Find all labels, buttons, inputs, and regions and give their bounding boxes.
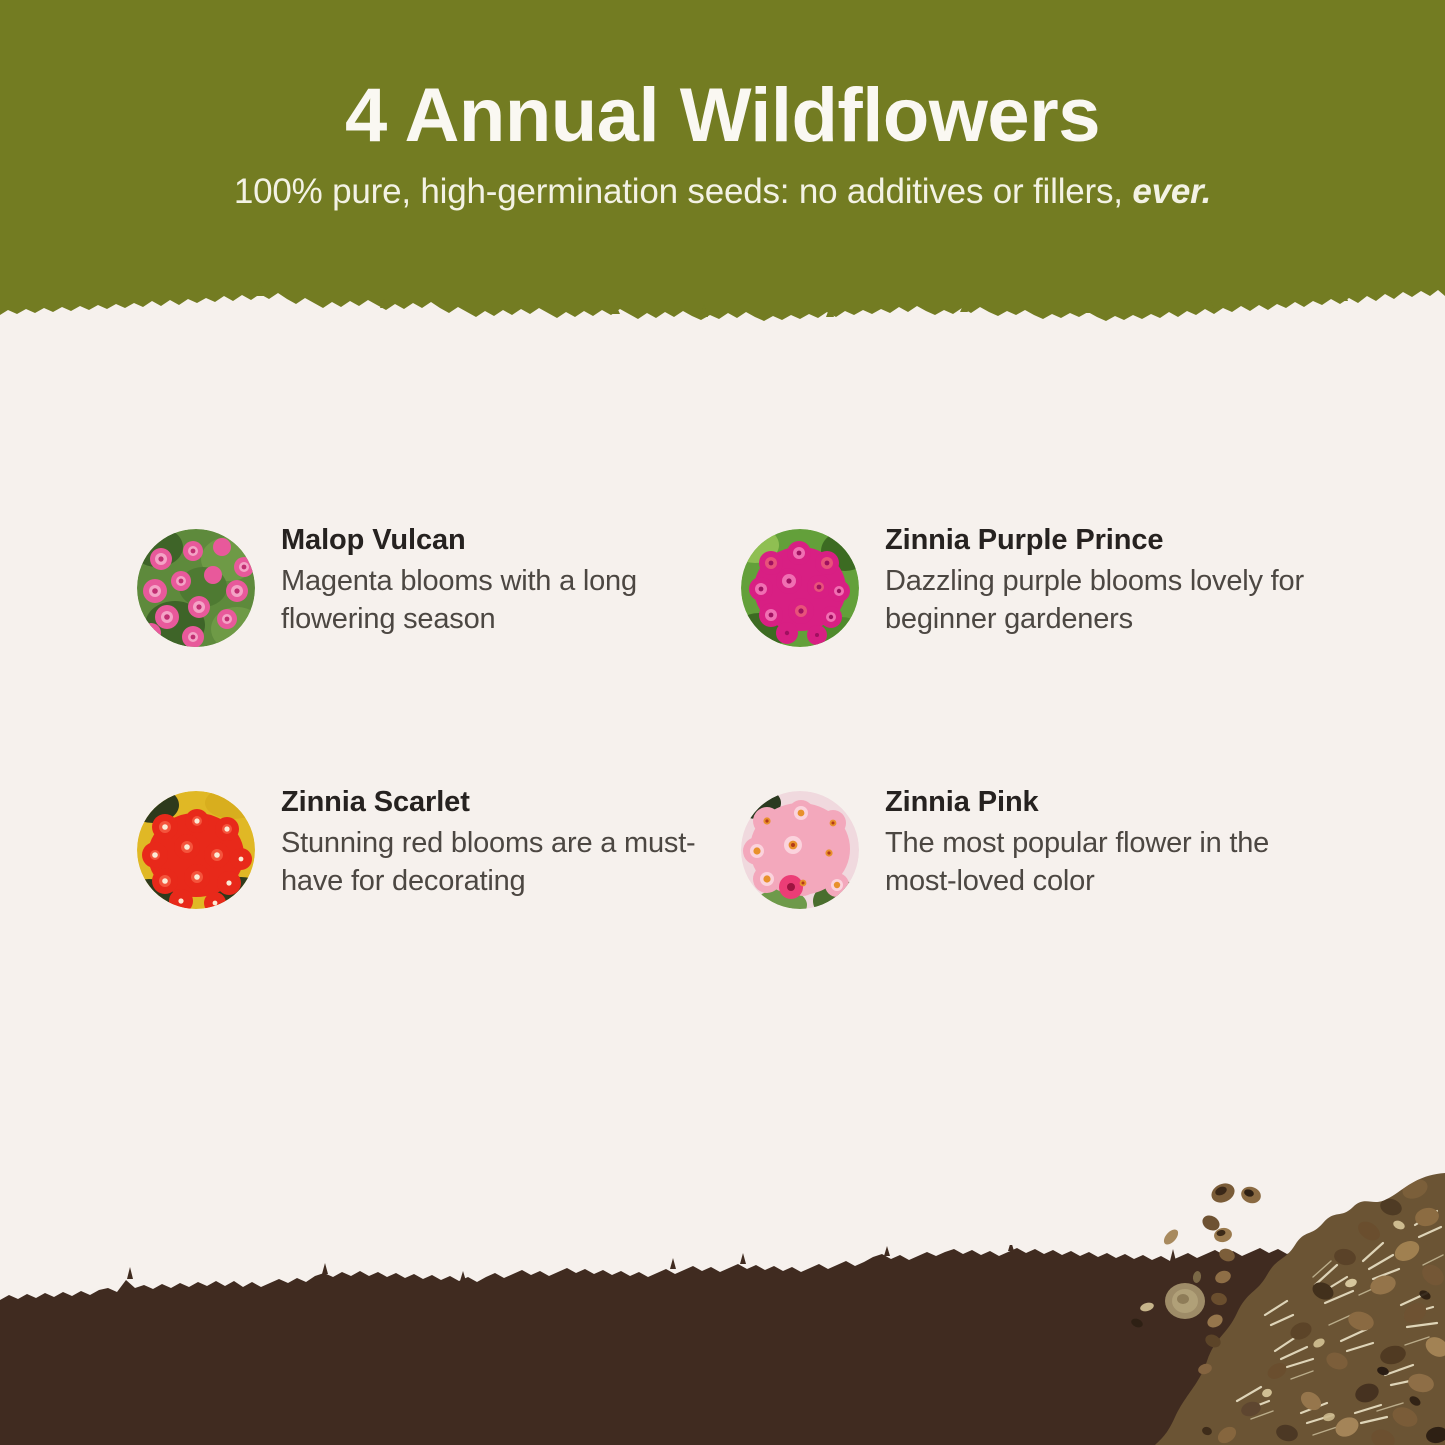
zinnia-pink-photo-icon <box>741 791 859 909</box>
zinnia-scarlet-photo-icon <box>137 791 255 909</box>
flower-name: Zinnia Purple Prince <box>885 520 1345 560</box>
flower-text-block: Malop Vulcan Magenta blooms with a long … <box>281 520 701 638</box>
flower-text-block: Zinnia Pink The most popular flower in t… <box>885 782 1315 900</box>
flower-name: Malop Vulcan <box>281 520 701 560</box>
wildflower-seed-product-card: 4 Annual Wildflowers 100% pure, high-ger… <box>0 0 1445 1445</box>
flower-description: The most popular flower in the most-love… <box>885 824 1315 900</box>
page-subtitle: 100% pure, high-germination seeds: no ad… <box>0 170 1445 214</box>
header-text-block: 4 Annual Wildflowers 100% pure, high-ger… <box>0 0 1445 290</box>
flower-name: Zinnia Pink <box>885 782 1315 822</box>
subtitle-main-text: 100% pure, high-germination seeds: no ad… <box>234 172 1133 211</box>
header-band: 4 Annual Wildflowers 100% pure, high-ger… <box>0 0 1445 322</box>
malop-vulcan-photo-icon <box>137 529 255 647</box>
page-title: 4 Annual Wildflowers <box>0 72 1445 160</box>
list-item[interactable]: Zinnia Scarlet Stunning red blooms are a… <box>137 782 741 1044</box>
list-item[interactable]: Zinnia Pink The most popular flower in t… <box>741 782 1345 1044</box>
subtitle-emphasis-text: ever. <box>1132 172 1211 211</box>
seed-pile-photo-icon <box>1115 1165 1445 1445</box>
flower-description: Magenta blooms with a long flowering sea… <box>281 562 701 638</box>
zinnia-purple-prince-photo-icon <box>741 529 859 647</box>
flower-list: Malop Vulcan Magenta blooms with a long … <box>137 520 1337 1044</box>
list-item[interactable]: Malop Vulcan Magenta blooms with a long … <box>137 520 741 782</box>
flower-description: Stunning red blooms are a must-have for … <box>281 824 731 900</box>
flower-name: Zinnia Scarlet <box>281 782 731 822</box>
flower-description: Dazzling purple blooms lovely for beginn… <box>885 562 1345 638</box>
list-item[interactable]: Zinnia Purple Prince Dazzling purple blo… <box>741 520 1345 782</box>
flower-text-block: Zinnia Purple Prince Dazzling purple blo… <box>885 520 1345 638</box>
flower-text-block: Zinnia Scarlet Stunning red blooms are a… <box>281 782 731 900</box>
